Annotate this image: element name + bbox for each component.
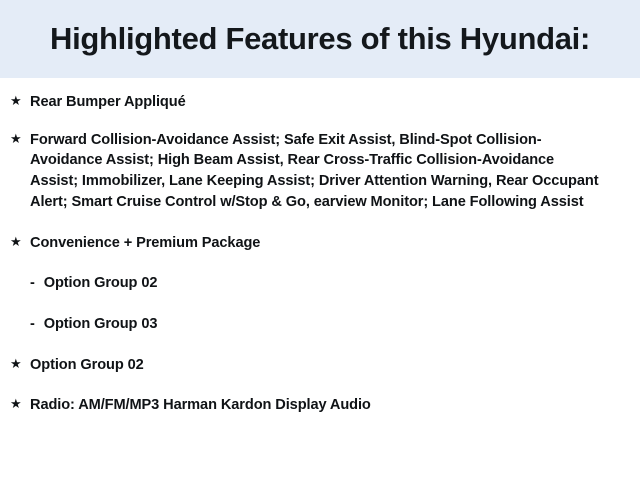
star-bullet-icon: ★ bbox=[10, 233, 22, 251]
list-item: ★ Option Group 02 bbox=[0, 355, 640, 376]
feature-text: Option Group 03 bbox=[44, 316, 158, 332]
page-header: Highlighted Features of this Hyundai: bbox=[0, 0, 640, 78]
features-list: ★ Rear Bumper Appliqué ★ Forward Collisi… bbox=[0, 78, 640, 416]
star-bullet-icon: ★ bbox=[10, 355, 22, 373]
list-item: ★ Convenience + Premium Package bbox=[0, 233, 640, 254]
page-title: Highlighted Features of this Hyundai: bbox=[50, 22, 590, 56]
feature-text: Convenience + Premium Package bbox=[30, 235, 260, 251]
star-bullet-icon: ★ bbox=[10, 130, 22, 148]
star-bullet-icon: ★ bbox=[10, 395, 22, 413]
feature-text: Radio: AM/FM/MP3 Harman Kardon Display A… bbox=[30, 397, 371, 413]
feature-text: Rear Bumper Appliqué bbox=[30, 94, 186, 110]
list-item-sub: - Option Group 02 bbox=[0, 273, 640, 294]
list-item: ★ Radio: AM/FM/MP3 Harman Kardon Display… bbox=[0, 395, 640, 416]
feature-text: Option Group 02 bbox=[44, 275, 158, 291]
dash-bullet-icon: - bbox=[30, 314, 35, 335]
list-item: ★ Rear Bumper Appliqué bbox=[0, 92, 640, 113]
features-page: Highlighted Features of this Hyundai: ★ … bbox=[0, 0, 640, 480]
star-bullet-icon: ★ bbox=[10, 92, 22, 110]
list-item: ★ Forward Collision-Avoidance Assist; Sa… bbox=[0, 130, 640, 213]
list-item-sub: - Option Group 03 bbox=[0, 314, 640, 335]
feature-text: Forward Collision-Avoidance Assist; Safe… bbox=[30, 132, 598, 210]
dash-bullet-icon: - bbox=[30, 273, 35, 294]
feature-text: Option Group 02 bbox=[30, 357, 144, 373]
